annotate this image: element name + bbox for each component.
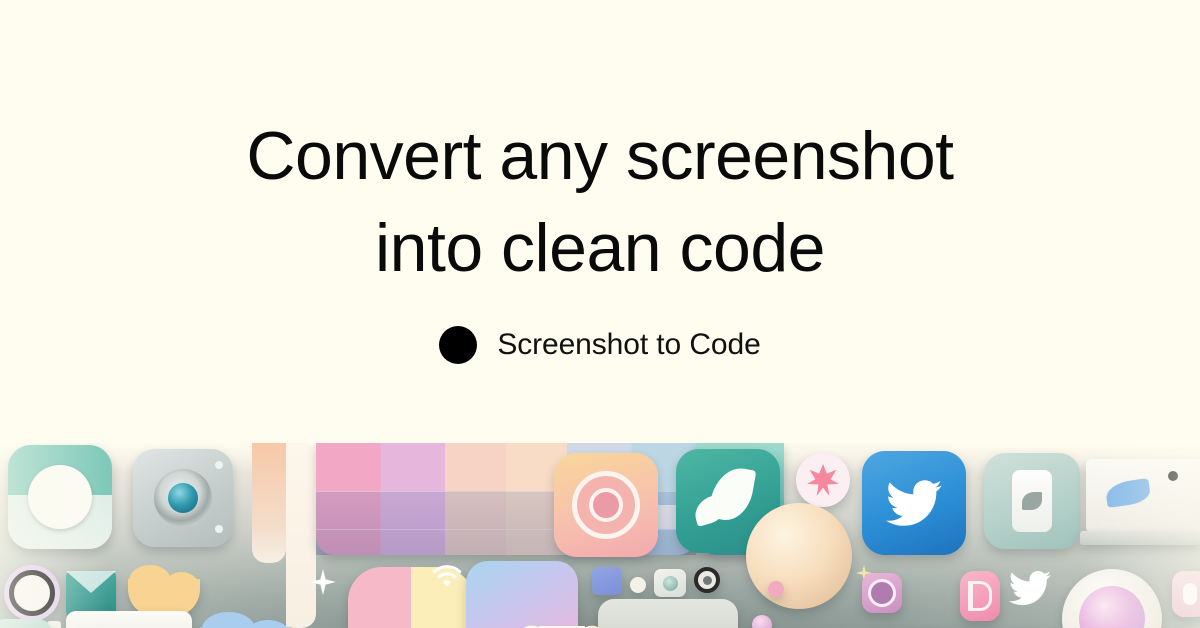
blue-bird-icon xyxy=(1105,478,1152,508)
page-title: Convert any screenshot into clean code xyxy=(246,110,953,294)
twitter-tile xyxy=(862,451,966,555)
map-pin-icon xyxy=(572,471,640,539)
brand-row: Screenshot to Code xyxy=(439,326,760,364)
leaf-bird-icon xyxy=(691,493,729,527)
twitter-bird-icon xyxy=(881,475,947,531)
pearl-glyph xyxy=(630,577,646,593)
lavender-bead-glyph xyxy=(752,615,772,628)
peach-strip-tile xyxy=(252,443,286,563)
flower-badge xyxy=(796,453,850,507)
purple-mini-tile xyxy=(862,573,902,613)
brand-name: Screenshot to Code xyxy=(497,326,760,364)
gradient-heart-tile xyxy=(466,561,578,628)
location-tile xyxy=(554,453,658,557)
flower-icon xyxy=(807,464,839,496)
envelope-icon xyxy=(66,571,116,593)
beats-icon xyxy=(968,581,992,611)
og-card: Convert any screenshot into clean code S… xyxy=(0,0,1200,628)
camera-lens-icon xyxy=(154,469,212,527)
apple-device-icon xyxy=(1012,470,1052,532)
dot-icon xyxy=(1168,471,1178,481)
beats-glyph xyxy=(960,571,1000,621)
pink-bead-glyph xyxy=(768,581,784,597)
blue-square-glyph xyxy=(592,567,622,595)
white-panel-tile xyxy=(66,611,192,628)
wifi-icon xyxy=(430,561,464,589)
camera-tile xyxy=(133,449,233,547)
bird-card-base xyxy=(1080,531,1200,545)
headline-line-2: into clean code xyxy=(246,202,953,294)
camera-ring-glyph xyxy=(4,565,60,621)
hero-section: Convert any screenshot into clean code S… xyxy=(0,0,1200,445)
headline-line-1: Convert any screenshot xyxy=(246,110,953,202)
mini-camera-glyph xyxy=(654,569,686,597)
white-bird-glyph xyxy=(1006,567,1054,609)
illustration-strip xyxy=(0,443,1200,628)
orb-plate-glyph xyxy=(1062,569,1162,628)
camera-dot-icon xyxy=(215,461,223,469)
peach-sphere xyxy=(746,503,852,609)
teal-toggle-tile xyxy=(8,445,112,549)
teal-pill-glyph xyxy=(0,619,52,628)
right-pill-glyph xyxy=(1172,571,1200,617)
ring-glyph xyxy=(694,567,720,593)
bird-card-tile xyxy=(1086,459,1200,533)
camera-dot-icon xyxy=(215,525,223,533)
black-circle-logo-icon xyxy=(439,326,477,364)
grey-panel-tile xyxy=(598,599,738,628)
cream-strip-tile xyxy=(286,443,316,628)
device-tile xyxy=(984,453,1080,549)
orb-icon xyxy=(1079,586,1145,628)
circle-knob-icon xyxy=(28,465,92,529)
